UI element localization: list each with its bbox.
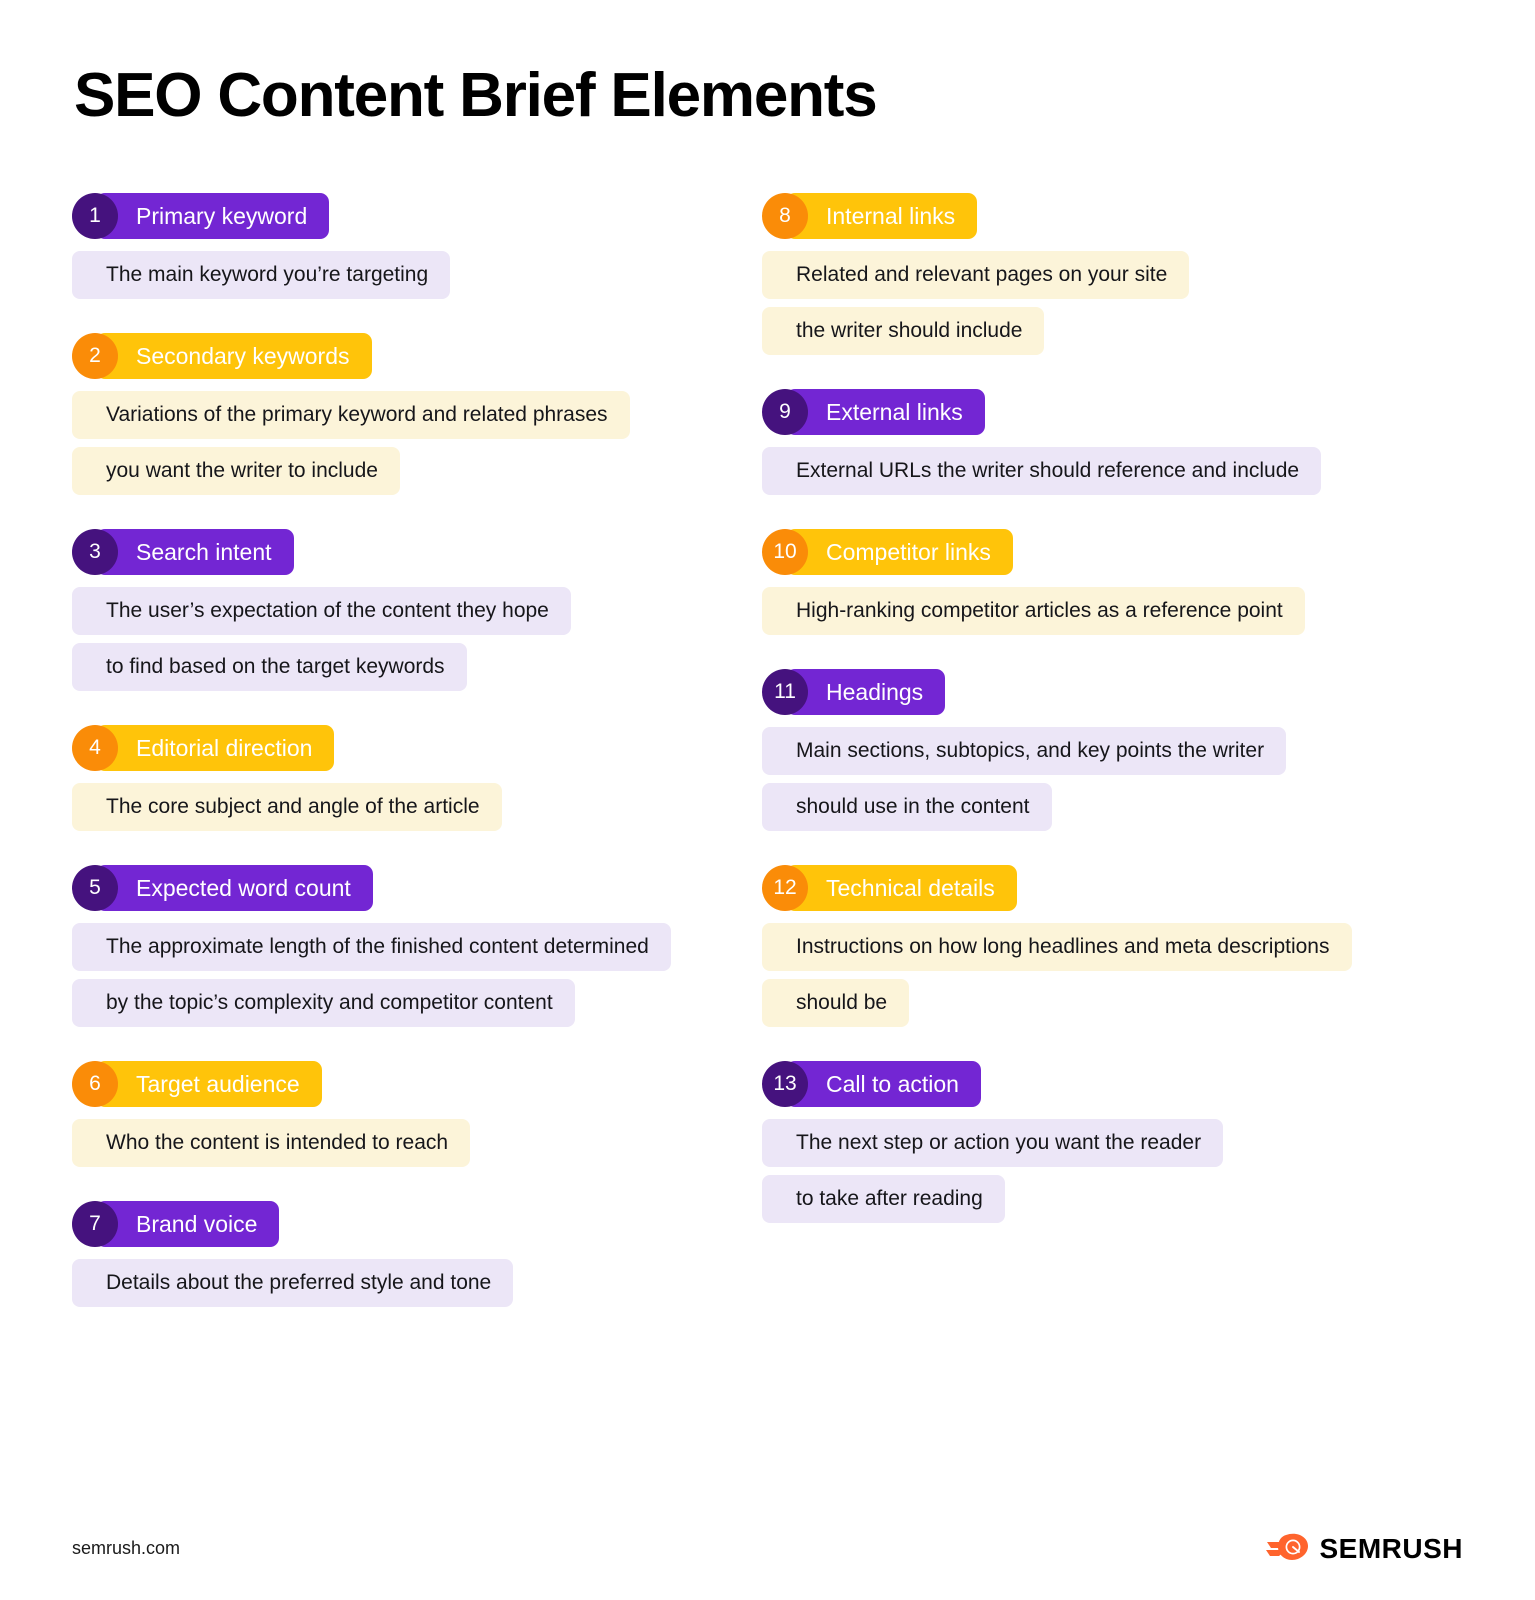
brief-element-item: 2Secondary keywordsVariations of the pri… xyxy=(72,333,762,495)
items-column-left: 1Primary keywordThe main keyword you’re … xyxy=(72,193,762,1341)
brief-element-item: 7Brand voiceDetails about the preferred … xyxy=(72,1201,762,1307)
item-description-line: the writer should include xyxy=(762,307,1044,355)
item-description-line: High-ranking competitor articles as a re… xyxy=(762,587,1305,635)
footer: semrush.com SEMRUSH xyxy=(72,1531,1463,1566)
item-number-badge: 12 xyxy=(762,865,808,911)
item-label-pill: Primary keyword xyxy=(96,193,329,239)
item-label-pill: Headings xyxy=(786,669,945,715)
brief-element-item: 6Target audienceWho the content is inten… xyxy=(72,1061,762,1167)
item-label-pill: Secondary keywords xyxy=(96,333,372,379)
item-label-pill: Editorial direction xyxy=(96,725,334,771)
page-title: SEO Content Brief Elements xyxy=(72,60,1463,131)
item-description-line: Related and relevant pages on your site xyxy=(762,251,1189,299)
item-label-pill: Expected word count xyxy=(96,865,373,911)
brief-element-item: 13Call to actionThe next step or action … xyxy=(762,1061,1452,1223)
item-number-badge: 10 xyxy=(762,529,808,575)
item-label-pill: Brand voice xyxy=(96,1201,279,1247)
item-description-line: Details about the preferred style and to… xyxy=(72,1259,513,1307)
item-description-line: External URLs the writer should referenc… xyxy=(762,447,1321,495)
item-description-line: The approximate length of the finished c… xyxy=(72,923,671,971)
brief-element-item: 10Competitor linksHigh-ranking competito… xyxy=(762,529,1452,635)
item-number-badge: 7 xyxy=(72,1201,118,1247)
infographic-page: SEO Content Brief Elements 1Primary keyw… xyxy=(0,0,1535,1600)
items-columns: 1Primary keywordThe main keyword you’re … xyxy=(72,193,1463,1341)
item-header: 9External links xyxy=(762,389,1452,435)
item-description-line: should use in the content xyxy=(762,783,1052,831)
item-header: 11Headings xyxy=(762,669,1452,715)
brief-element-item: 8Internal linksRelated and relevant page… xyxy=(762,193,1452,355)
item-header: 1Primary keyword xyxy=(72,193,762,239)
brief-element-item: 4Editorial directionThe core subject and… xyxy=(72,725,762,831)
item-number-badge: 4 xyxy=(72,725,118,771)
item-description-line: Who the content is intended to reach xyxy=(72,1119,470,1167)
item-description-line: should be xyxy=(762,979,909,1027)
item-label-pill: Competitor links xyxy=(786,529,1013,575)
item-number-badge: 5 xyxy=(72,865,118,911)
brief-element-item: 11HeadingsMain sections, subtopics, and … xyxy=(762,669,1452,831)
item-number-badge: 13 xyxy=(762,1061,808,1107)
item-description-line: by the topic’s complexity and competitor… xyxy=(72,979,575,1027)
brief-element-item: 1Primary keywordThe main keyword you’re … xyxy=(72,193,762,299)
item-number-badge: 2 xyxy=(72,333,118,379)
item-header: 10Competitor links xyxy=(762,529,1452,575)
item-label-pill: Call to action xyxy=(786,1061,981,1107)
item-header: 7Brand voice xyxy=(72,1201,762,1247)
item-header: 3Search intent xyxy=(72,529,762,575)
item-header: 8Internal links xyxy=(762,193,1452,239)
items-column-right: 8Internal linksRelated and relevant page… xyxy=(762,193,1452,1341)
item-header: 4Editorial direction xyxy=(72,725,762,771)
item-number-badge: 1 xyxy=(72,193,118,239)
item-header: 6Target audience xyxy=(72,1061,762,1107)
brief-element-item: 3Search intentThe user’s expectation of … xyxy=(72,529,762,691)
semrush-logo: SEMRUSH xyxy=(1266,1531,1463,1566)
item-number-badge: 6 xyxy=(72,1061,118,1107)
brief-element-item: 5Expected word countThe approximate leng… xyxy=(72,865,762,1027)
brief-element-item: 9External linksExternal URLs the writer … xyxy=(762,389,1452,495)
item-number-badge: 11 xyxy=(762,669,808,715)
item-description-line: The next step or action you want the rea… xyxy=(762,1119,1223,1167)
item-label-pill: Internal links xyxy=(786,193,977,239)
item-number-badge: 8 xyxy=(762,193,808,239)
item-header: 13Call to action xyxy=(762,1061,1452,1107)
item-description-line: Variations of the primary keyword and re… xyxy=(72,391,630,439)
item-label-pill: Search intent xyxy=(96,529,294,575)
item-label-pill: External links xyxy=(786,389,985,435)
brief-element-item: 12Technical detailsInstructions on how l… xyxy=(762,865,1452,1027)
item-number-badge: 3 xyxy=(72,529,118,575)
item-label-pill: Technical details xyxy=(786,865,1017,911)
item-description-line: to find based on the target keywords xyxy=(72,643,467,691)
item-description-line: Instructions on how long headlines and m… xyxy=(762,923,1352,971)
item-description-line: The user’s expectation of the content th… xyxy=(72,587,571,635)
item-header: 12Technical details xyxy=(762,865,1452,911)
semrush-wordmark: SEMRUSH xyxy=(1319,1533,1463,1565)
item-description-line: you want the writer to include xyxy=(72,447,400,495)
item-description-line: to take after reading xyxy=(762,1175,1005,1223)
item-label-pill: Target audience xyxy=(96,1061,322,1107)
footer-url: semrush.com xyxy=(72,1538,180,1559)
semrush-comet-icon xyxy=(1266,1531,1310,1566)
item-header: 5Expected word count xyxy=(72,865,762,911)
item-description-line: The main keyword you’re targeting xyxy=(72,251,450,299)
item-header: 2Secondary keywords xyxy=(72,333,762,379)
item-number-badge: 9 xyxy=(762,389,808,435)
item-description-line: The core subject and angle of the articl… xyxy=(72,783,502,831)
item-description-line: Main sections, subtopics, and key points… xyxy=(762,727,1286,775)
